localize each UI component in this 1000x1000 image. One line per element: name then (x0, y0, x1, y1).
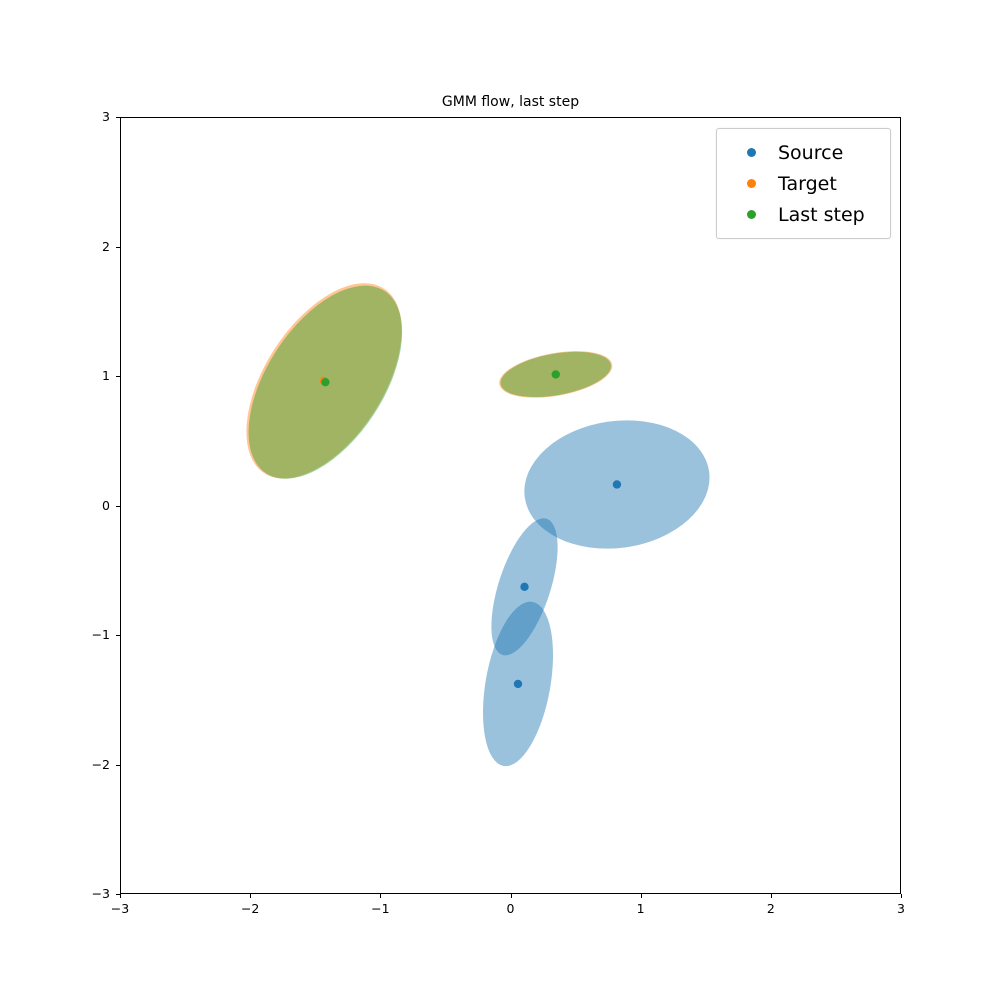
legend-item-source[interactable]: Source (727, 137, 880, 168)
page-title: GMM flow, last step (120, 94, 901, 110)
legend-item-label: Source (778, 142, 843, 164)
scatter-point (552, 370, 560, 378)
x-tick-mark (511, 894, 512, 898)
scatter-point (321, 378, 329, 386)
x-tick-mark (771, 894, 772, 898)
y-tick-mark (116, 247, 120, 248)
y-tick-label: 2 (70, 239, 110, 254)
x-tick-mark (901, 894, 902, 898)
scatter-point (613, 480, 621, 488)
y-tick-label: −3 (70, 886, 110, 901)
scatter-point (514, 680, 522, 688)
y-tick-mark (116, 894, 120, 895)
y-tick-label: 3 (70, 109, 110, 124)
x-tick-label: −3 (90, 901, 150, 916)
matplotlib-figure: GMM flow, last step −3−2−10123 −3−2−1012… (0, 0, 1000, 1000)
legend-item-label: Target (778, 173, 837, 195)
y-tick-mark (116, 376, 120, 377)
x-tick-label: −1 (350, 901, 410, 916)
legend-item-label: Last step (778, 204, 865, 226)
x-tick-label: 2 (741, 901, 801, 916)
x-tick-label: −2 (220, 901, 280, 916)
y-tick-mark (116, 117, 120, 118)
legend-item-last-step[interactable]: Last step (727, 199, 880, 230)
y-tick-mark (116, 765, 120, 766)
x-tick-mark (641, 894, 642, 898)
x-tick-mark (250, 894, 251, 898)
scatter-point (520, 583, 528, 591)
x-tick-label: 3 (871, 901, 931, 916)
y-tick-mark (116, 635, 120, 636)
y-tick-label: 0 (70, 498, 110, 513)
y-tick-mark (116, 506, 120, 507)
legend-item-target[interactable]: Target (727, 168, 880, 199)
x-tick-mark (380, 894, 381, 898)
legend-marker-icon (747, 210, 756, 219)
legend[interactable]: SourceTargetLast step (716, 128, 891, 239)
legend-marker-icon (747, 179, 756, 188)
y-tick-label: 1 (70, 368, 110, 383)
x-tick-label: 0 (481, 901, 541, 916)
y-tick-label: −1 (70, 627, 110, 642)
legend-marker-icon (747, 148, 756, 157)
x-tick-label: 1 (611, 901, 671, 916)
y-tick-label: −2 (70, 757, 110, 772)
x-tick-mark (120, 894, 121, 898)
